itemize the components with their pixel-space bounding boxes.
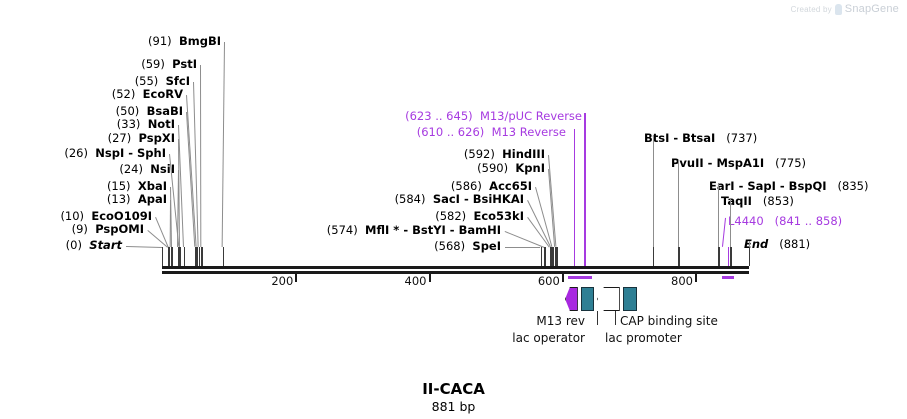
site-tick-mark [555,247,556,266]
label-leader-line [730,198,731,247]
site-position: (10) [60,209,84,223]
restriction-site-label[interactable]: (582) Eco53kI [435,210,524,223]
site-tick-mark [574,247,575,266]
restriction-site-label[interactable]: (592) HindIII [464,148,545,161]
site-position: (27) [108,131,132,145]
ruler-label: 800 [669,274,693,288]
site-position: (568) [434,239,465,253]
site-tick-mark [556,247,557,266]
site-name: PstI [172,57,197,71]
primer-leader-line [574,129,575,247]
site-name: M13/pUC Reverse [480,109,582,123]
site-tick-mark [544,247,545,266]
site-tick-mark [171,247,172,266]
site-name: NotI [148,117,175,131]
site-tick-mark [749,247,750,266]
site-name: SpeI [472,239,501,253]
site-tick-mark [179,247,180,266]
site-tick-mark [201,247,202,266]
site-position: (55) [135,74,159,88]
site-position: (775) [775,156,806,170]
site-position: (592) [464,147,495,161]
feature-label-connector [597,311,598,325]
label-leader-line [678,160,679,247]
site-tick-mark [551,247,552,266]
site-name: SacI - BsiHKAI [433,192,524,206]
label-leader-line [653,135,654,247]
restriction-site-label[interactable]: EarI - SapI - BspQI (835) [709,180,868,193]
site-tick-mark [541,247,542,266]
ruler-tick [295,274,297,282]
restriction-site-label[interactable]: L4440 (841 .. 858) [728,215,842,228]
primer-bar-l4440 [722,276,733,279]
site-position: (881) [779,237,810,251]
site-position: (574) [327,223,358,237]
restriction-site-label[interactable]: (590) KpnI [477,162,545,175]
site-position: (50) [116,104,140,118]
page-title: II-CACA [0,380,907,398]
site-position: (841 .. 858) [775,214,843,228]
restriction-site-label[interactable]: (13) ApaI [107,193,167,206]
ruler-tick [695,274,697,282]
site-position: (59) [141,57,165,71]
restriction-site-label[interactable]: (33) NotI [117,118,175,131]
primer-leader-line [584,113,585,247]
site-name: EcoRV [143,87,183,101]
ruler-label: 400 [403,274,427,288]
watermark-brand-label: SnapGene [845,3,899,15]
restriction-site-label[interactable]: (52) EcoRV [112,88,183,101]
restriction-site-label[interactable]: (623 .. 645) M13/pUC Reverse [405,110,582,123]
restriction-site-label[interactable]: TaqII (853) [721,195,794,208]
site-position: (586) [451,179,482,193]
site-name: TaqII [721,194,752,208]
site-position: (33) [117,117,141,131]
site-position: (9) [72,222,88,236]
site-name: KpnI [515,161,545,175]
site-tick-mark [552,247,553,266]
site-position: (91) [148,34,172,48]
feature-lac-operator[interactable] [581,287,594,311]
site-name: M13 Reverse [492,125,566,139]
site-tick-mark [728,247,729,266]
ruler-label: 600 [536,274,560,288]
site-tick-mark [162,247,163,266]
restriction-site-label[interactable]: (9) PspOMI [72,223,144,236]
site-tick-mark [653,247,654,266]
site-name: Start [89,238,122,252]
watermark-created-label: Created by [791,5,832,14]
site-tick-mark [195,247,196,266]
feature-cap-binding-site[interactable] [623,287,637,311]
feature-label-m13-rev[interactable]: M13 rev [536,314,585,328]
site-position: (737) [726,131,757,145]
site-position: (13) [107,192,131,206]
site-name: PvuII - MspA1I [671,156,764,170]
site-name: PspOMI [95,222,144,236]
site-tick-mark [584,247,585,266]
restriction-site-label[interactable]: (26) NspI - SphI [64,147,166,160]
restriction-site-label[interactable]: (574) MflI * - BstYI - BamHI [327,224,501,237]
site-position: (584) [395,192,426,206]
site-name: Eco53kI [473,209,524,223]
feature-label-lac-operator[interactable]: lac operator [512,331,585,345]
site-name: End [744,237,768,251]
backbone-bottom-strand [162,271,749,274]
restriction-site-label[interactable]: (59) PstI [141,58,197,71]
site-position: (15) [107,179,131,193]
restriction-site-label[interactable]: (0) Start [66,239,122,252]
site-tick-mark [223,247,224,266]
site-tick-mark [550,247,551,266]
feature-label-cap-binding-site[interactable]: CAP binding site [620,314,718,328]
feature-label-connector [615,311,616,325]
restriction-site-label[interactable]: End (881) [744,238,810,251]
site-position: (623 .. 645) [405,109,473,123]
primer-bar-m13-reverse [568,276,591,279]
site-position: (26) [64,146,88,160]
site-tick-mark [199,247,200,266]
site-position: (835) [838,179,869,193]
backbone-top-strand [162,266,749,269]
site-position: (853) [763,194,794,208]
restriction-site-label[interactable]: (610 .. 626) M13 Reverse [417,126,566,139]
site-tick-mark [178,247,179,266]
restriction-site-label[interactable]: (584) SacI - BsiHKAI [395,193,524,206]
restriction-site-label[interactable]: PvuII - MspA1I (775) [671,157,806,170]
site-name: BsaBI [147,104,183,118]
site-name: HindIII [502,147,545,161]
site-name: XbaI [138,179,167,193]
sequence-length-label: 881 bp [0,399,907,414]
site-position: (0) [66,238,82,252]
site-name: EcoO109I [91,209,152,223]
restriction-site-label[interactable]: (91) BmgBI [148,35,221,48]
site-name: BtsI - BtsaI [644,131,715,145]
site-tick-mark [730,247,731,266]
site-position: (52) [112,87,136,101]
restriction-site-label[interactable]: BtsI - BtsaI (737) [644,132,757,145]
site-tick-mark [172,247,173,266]
site-name: SfcI [166,74,190,88]
restriction-site-label[interactable]: (27) PspXI [108,132,175,145]
site-name: MflI * - BstYI - BamHI [365,223,501,237]
restriction-site-label[interactable]: (568) SpeI [434,240,501,253]
site-name: NspI - SphI [95,146,166,160]
label-leader-line [718,183,719,247]
site-name: ApaI [138,192,167,206]
site-position: (582) [435,209,466,223]
site-name: Acc65I [489,179,532,193]
site-position: (24) [119,162,143,176]
site-position: (590) [477,161,508,175]
site-tick-mark [678,247,679,266]
snapgene-watermark: Created by SnapGene [791,3,899,15]
ruler-tick [429,274,431,282]
site-tick-mark [197,247,198,266]
site-name: L4440 [728,214,764,228]
ruler-tick [562,274,564,282]
site-tick-mark [718,247,719,266]
site-position: (610 .. 626) [417,125,485,139]
site-name: BmgBI [179,34,221,48]
site-tick-mark [184,247,185,266]
site-name: EarI - SapI - BspQI [709,179,827,193]
label-leader-line [505,247,540,248]
ruler-label: 200 [269,274,293,288]
site-name: PspXI [139,131,175,145]
site-tick-mark [168,247,169,266]
feature-label-lac-promoter[interactable]: lac promoter [605,331,682,345]
snapgene-logo-icon [835,4,842,15]
restriction-site-label[interactable]: (24) NsiI [119,163,175,176]
